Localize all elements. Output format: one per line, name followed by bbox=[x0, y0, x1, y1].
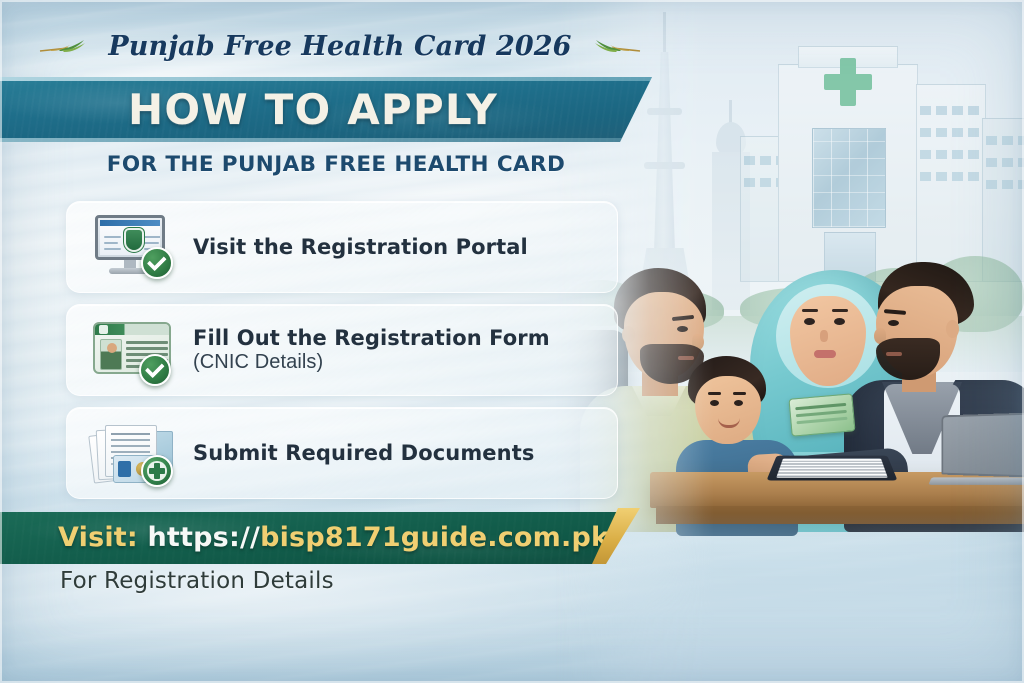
step-item-fill-form[interactable]: Fill Out the Registration Form (CNIC Det… bbox=[66, 304, 618, 396]
poster-canvas: Punjab Free Health Card 2026 HOW TO APPL… bbox=[0, 0, 1024, 683]
visit-url-banner[interactable]: Visit: https://bisp8171guide.com.pk/ bbox=[0, 512, 636, 564]
registration-footnote: For Registration Details bbox=[60, 568, 334, 594]
green-check-badge bbox=[139, 354, 171, 386]
url-host: bisp8171guide.com.pk/ bbox=[260, 522, 619, 553]
government-crest-icon bbox=[126, 230, 142, 250]
page-subtitle: FOR THE PUNJAB FREE HEALTH CARD bbox=[0, 152, 672, 182]
leaf-flourish-left-icon bbox=[38, 37, 94, 55]
green-check-badge bbox=[141, 247, 173, 279]
step-sublabel: (CNIC Details) bbox=[193, 351, 550, 374]
page-title: Punjab Free Health Card 2026 bbox=[108, 31, 571, 62]
leaf-flourish-right-icon bbox=[586, 37, 642, 55]
step-label: Fill Out the Registration Form bbox=[193, 326, 550, 351]
step-item-visit-portal[interactable]: Visit the Registration Portal bbox=[66, 201, 618, 293]
step-item-submit-documents[interactable]: Submit Required Documents bbox=[66, 407, 618, 499]
step-label: Visit the Registration Portal bbox=[193, 235, 528, 260]
visit-label: Visit: bbox=[58, 522, 138, 553]
documents-stack-icon bbox=[85, 417, 177, 489]
poster-title-row: Punjab Free Health Card 2026 bbox=[0, 26, 680, 66]
how-to-apply-banner: HOW TO APPLY bbox=[0, 77, 652, 142]
banner-heading: HOW TO APPLY bbox=[0, 77, 652, 142]
step-label: Submit Required Documents bbox=[193, 441, 534, 466]
green-plus-badge bbox=[141, 455, 173, 487]
cnic-card-icon bbox=[85, 314, 177, 386]
steps-list: Visit the Registration Portal Fill Out t… bbox=[66, 201, 618, 510]
visit-url-text: Visit: https://bisp8171guide.com.pk/ bbox=[0, 512, 636, 564]
url-protocol: https:// bbox=[148, 522, 261, 553]
monitor-portal-icon bbox=[85, 211, 177, 283]
